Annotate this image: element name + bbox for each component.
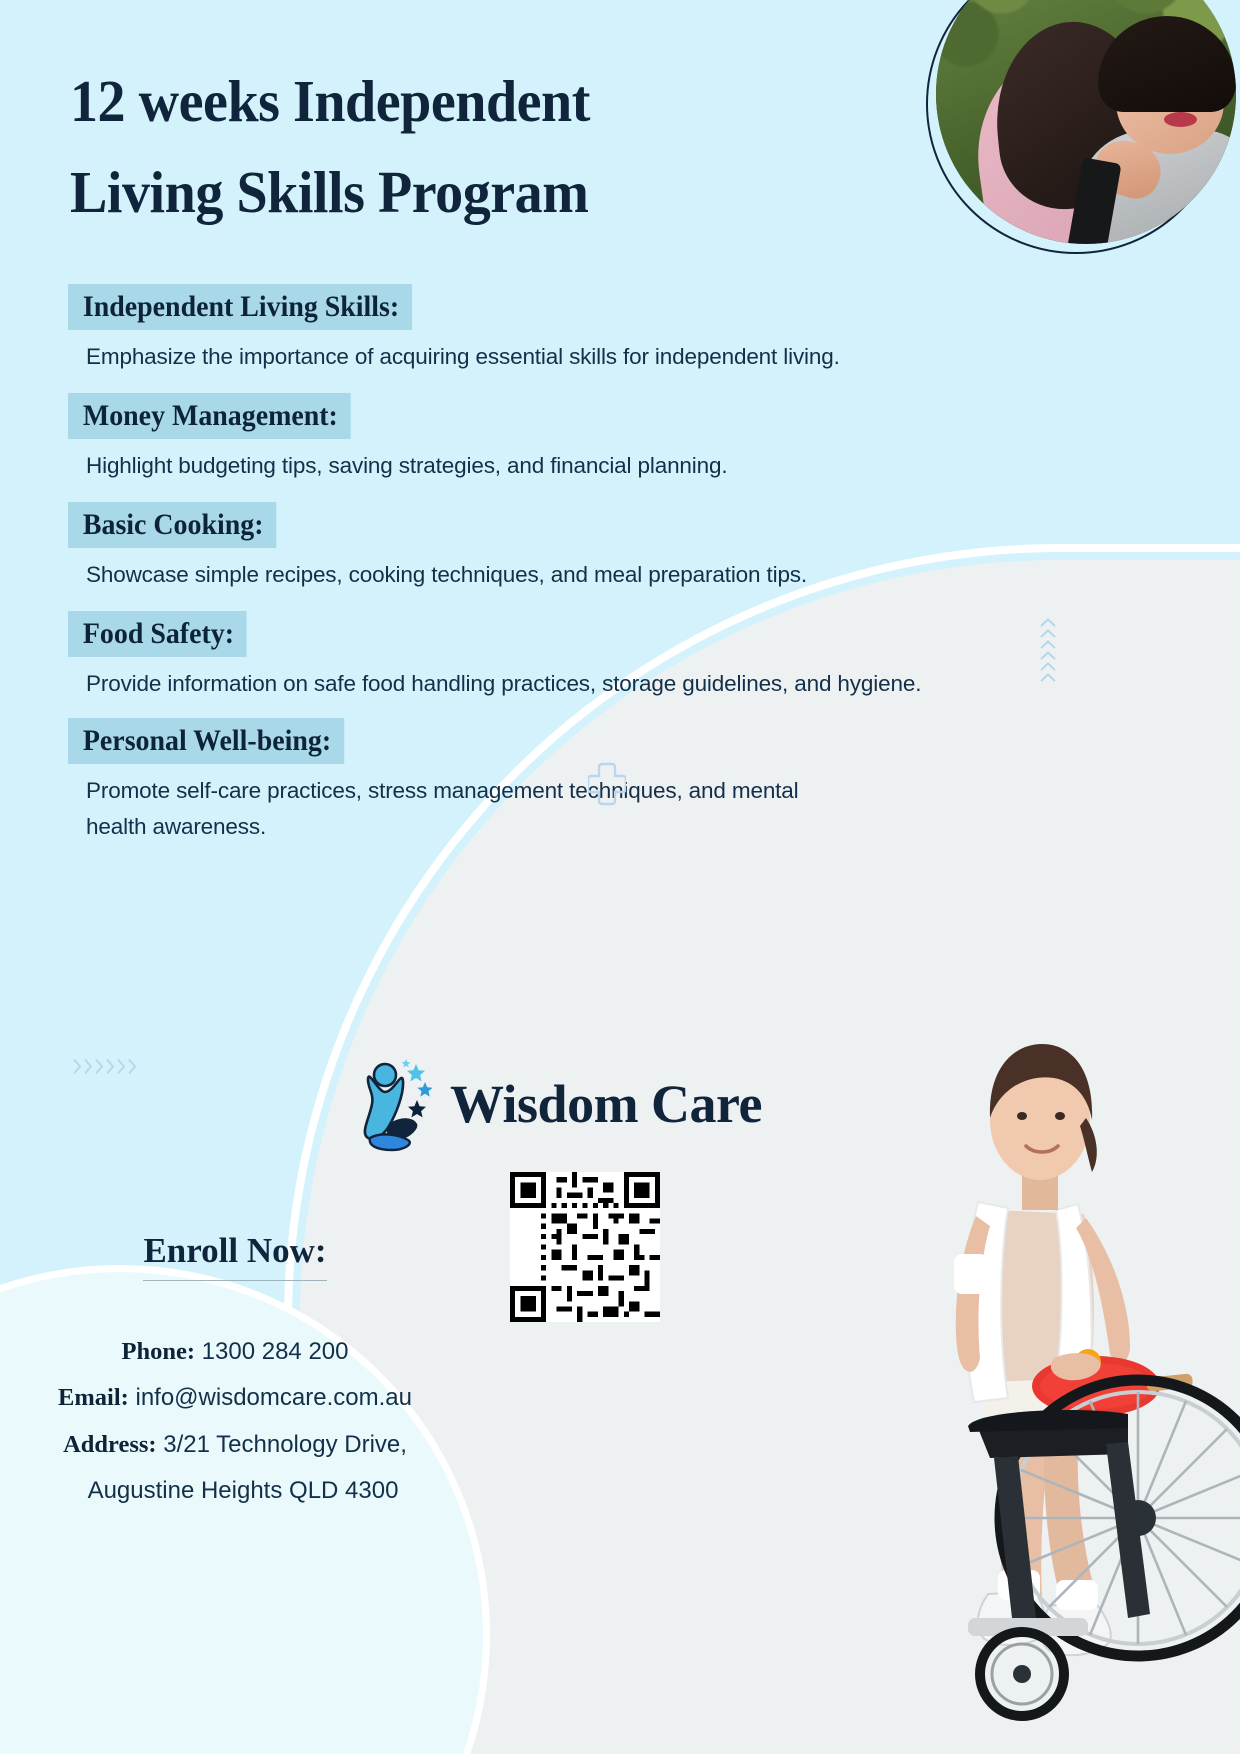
- address-line-1: 3/21 Technology Drive,: [163, 1431, 407, 1458]
- enroll-now-heading: Enroll Now:: [143, 1228, 326, 1281]
- contact-row-address: Address: 3/21 Technology Drive, Augustin…: [0, 1422, 470, 1514]
- contact-row-email[interactable]: Email: info@wisdomcare.com.au: [0, 1375, 470, 1422]
- email-label: Email:: [58, 1384, 129, 1411]
- section-food-safety: Food Safety: Provide information on safe…: [68, 611, 1008, 702]
- section-body: Promote self-care practices, stress mana…: [86, 773, 846, 846]
- section-body: Emphasize the importance of acquiring es…: [86, 339, 986, 375]
- section-money-management: Money Management: Highlight budgeting ti…: [68, 393, 1008, 484]
- chevron-up-stack-icon: [1040, 618, 1056, 682]
- section-body: Highlight budgeting tips, saving strateg…: [86, 448, 986, 484]
- email-value: info@wisdomcare.com.au: [135, 1384, 411, 1411]
- section-basic-cooking: Basic Cooking: Showcase simple recipes, …: [68, 502, 1008, 593]
- plus-outline-icon: [588, 762, 626, 808]
- title-line-2: Living Skills Program: [70, 147, 697, 238]
- brand-logo: Wisdom Care: [356, 1056, 762, 1152]
- brand-name: Wisdom Care: [450, 1077, 762, 1131]
- address-line-2: Augustine Heights QLD 4300: [16, 1468, 470, 1514]
- wheelchair-photo: [828, 958, 1240, 1754]
- program-sections: Independent Living Skills: Emphasize the…: [68, 284, 1008, 850]
- address-label: Address:: [63, 1431, 156, 1458]
- section-independent-living-skills: Independent Living Skills: Emphasize the…: [68, 284, 1008, 375]
- section-body: Showcase simple recipes, cooking techniq…: [86, 557, 986, 593]
- chevron-right-row-icon: [72, 1058, 137, 1075]
- contact-row-phone[interactable]: Phone: 1300 284 200: [0, 1329, 470, 1376]
- section-heading: Independent Living Skills:: [68, 284, 412, 330]
- section-heading: Personal Well-being:: [68, 718, 344, 764]
- section-heading: Basic Cooking:: [68, 502, 277, 548]
- page-title: 12 weeks Independent Living Skills Progr…: [70, 56, 697, 239]
- phone-value: 1300 284 200: [202, 1338, 349, 1365]
- contact-block: Enroll Now: Phone: 1300 284 200 Email: i…: [0, 1228, 470, 1514]
- section-body: Provide information on safe food handlin…: [86, 666, 966, 702]
- poster-canvas: 12 weeks Independent Living Skills Progr…: [0, 0, 1240, 1754]
- section-personal-well-being: Personal Well-being: Promote self-care p…: [68, 718, 1008, 845]
- contact-list: Phone: 1300 284 200 Email: info@wisdomca…: [0, 1329, 470, 1514]
- title-line-1: 12 weeks Independent: [70, 56, 697, 147]
- qr-code[interactable]: [510, 1172, 660, 1322]
- wisdom-care-mark-icon: [356, 1056, 434, 1152]
- section-heading: Money Management:: [68, 393, 351, 439]
- section-heading: Food Safety:: [68, 611, 247, 657]
- phone-label: Phone:: [122, 1338, 196, 1365]
- hero-photo: [936, 0, 1236, 244]
